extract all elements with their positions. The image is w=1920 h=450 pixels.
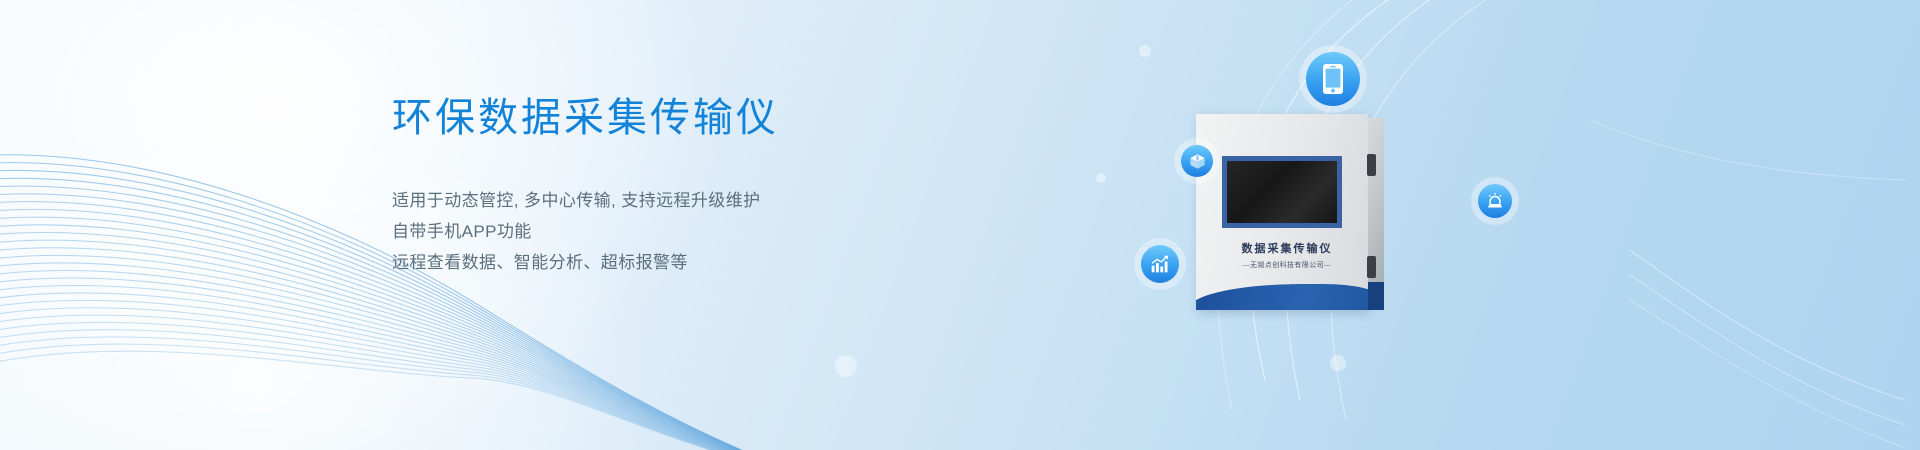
decorative-dot [1330,355,1346,371]
box-cube-icon[interactable] [1181,145,1213,177]
product-hero-banner: 环保数据采集传输仪 适用于动态管控, 多中心传输, 支持远程升级维护 自带手机A… [0,0,1920,450]
alarm-siren-glyph [1486,192,1504,210]
mobile-phone-icon[interactable] [1306,52,1360,106]
page-title: 环保数据采集传输仪 [392,93,1012,143]
feature-item-1: 适用于动态管控, 多中心传输, 支持远程升级维护 [392,185,1012,216]
alarm-siren-icon[interactable] [1478,184,1512,218]
device-base-accent-side [1368,282,1384,310]
product-device-image: 数据采集传输仪 —无锡点创科技有限公司— [1186,106,1446,346]
bar-chart-icon[interactable] [1141,245,1179,283]
device-hinge-bottom [1367,256,1376,278]
decorative-dot [1139,45,1151,57]
feature-item-3: 远程查看数据、智能分析、超标报警等 [392,247,1012,278]
mobile-phone-glyph [1322,63,1344,95]
decorative-dot [1096,173,1106,183]
device-company-label: —无锡点创科技有限公司— [1196,260,1378,270]
feature-list: 适用于动态管控, 多中心传输, 支持远程升级维护 自带手机APP功能 远程查看数… [392,185,1012,278]
device-screen-bezel [1222,156,1342,228]
device-hinge-top [1367,154,1376,176]
device-body: 数据采集传输仪 —无锡点创科技有限公司— [1196,114,1368,310]
device-screen [1227,161,1337,223]
feature-item-2: 自带手机APP功能 [392,216,1012,247]
box-cube-glyph [1189,153,1206,170]
hero-text-block: 环保数据采集传输仪 适用于动态管控, 多中心传输, 支持远程升级维护 自带手机A… [392,93,1012,278]
device-label: 数据采集传输仪 [1196,240,1378,256]
bar-chart-glyph [1150,254,1170,274]
device-base-accent [1196,282,1368,310]
decorative-dot [835,355,857,377]
